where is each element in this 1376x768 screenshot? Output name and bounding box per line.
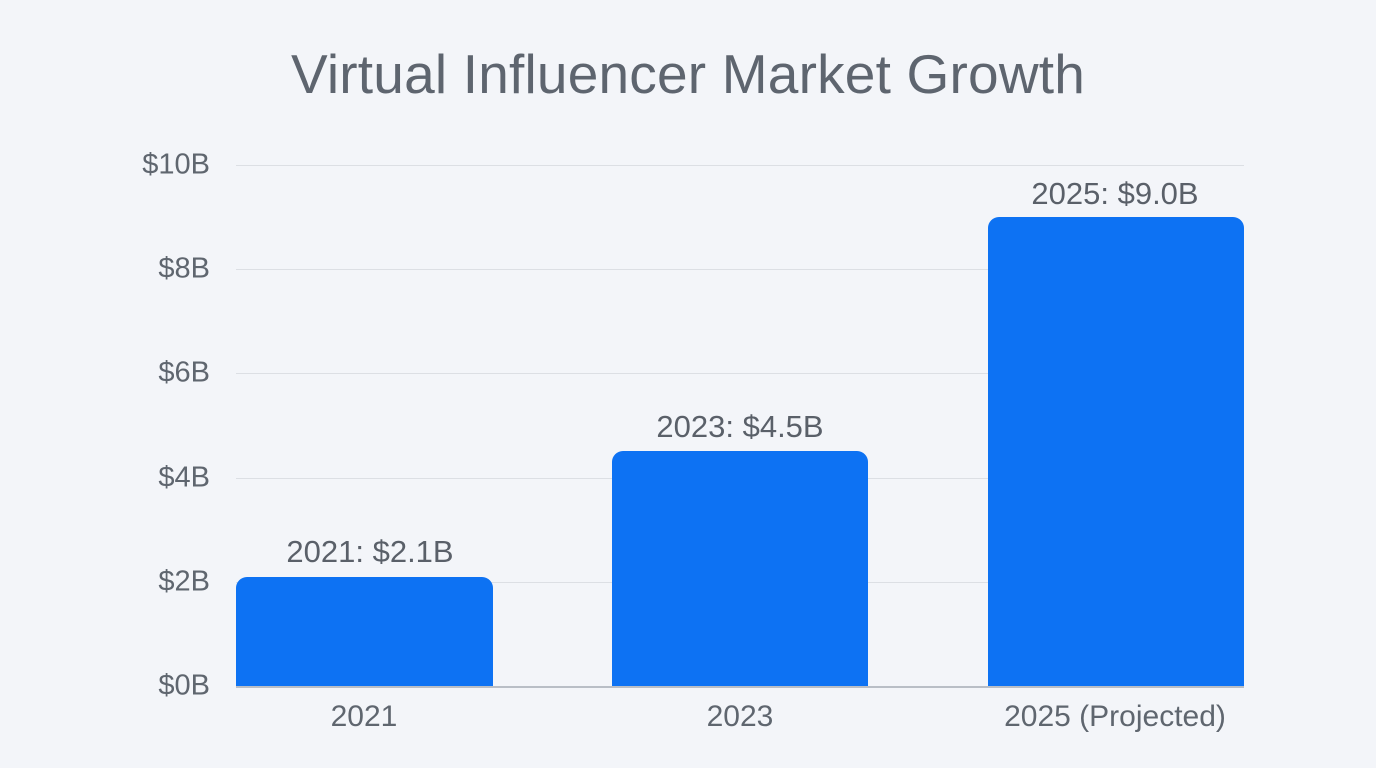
bar-2021[interactable] [236,577,493,686]
y-axis-tick-label-0: $0B [50,670,210,703]
gridline-10 [236,165,1244,166]
bar-value-label-2025-projected: 2025: $9.0B [1031,176,1198,212]
chart-canvas: Virtual Influencer Market Growth $10B $8… [0,0,1376,768]
y-axis-tick-label-4: $4B [50,462,210,495]
y-axis-tick-label-8: $8B [50,253,210,286]
x-axis-tick-label-2021: 2021 [331,700,398,734]
bar-value-label-2023: 2023: $4.5B [656,409,823,445]
y-axis-tick-label-6: $6B [50,357,210,390]
y-axis-tick-label-2: $2B [50,566,210,599]
axis-baseline [236,686,1244,688]
bar-2023[interactable] [612,451,868,686]
bar-2025-projected[interactable] [988,217,1244,686]
x-axis-tick-label-2023: 2023 [707,700,774,734]
chart-title: Virtual Influencer Market Growth [0,42,1376,106]
x-axis-tick-label-2025-projected: 2025 (Projected) [1004,700,1226,734]
y-axis-tick-label-10: $10B [50,149,210,182]
bar-value-label-2021: 2021: $2.1B [286,534,453,570]
